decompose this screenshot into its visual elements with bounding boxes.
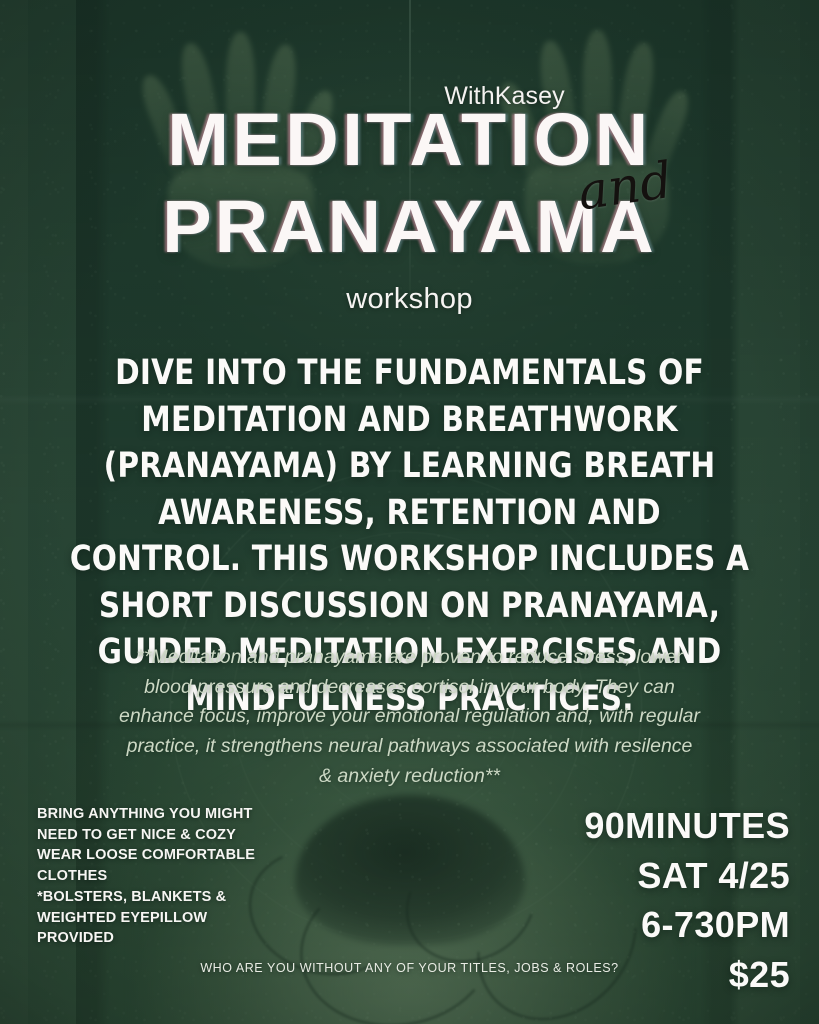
detail-date: SAT 4/25 <box>584 851 790 901</box>
bring-list: BRING ANYTHING YOU MIGHT NEED TO GET NIC… <box>37 804 255 949</box>
bring-list-item: BRING ANYTHING YOU MIGHT <box>37 804 255 825</box>
poster: WithKasey MEDITATION PRANAYAMA and works… <box>0 0 819 1024</box>
detail-time: 6-730PM <box>584 900 790 950</box>
title-line-pranayama: PRANAYAMA <box>0 191 819 264</box>
title-script-and: and <box>575 153 691 218</box>
detail-duration: 90MINUTES <box>584 801 790 851</box>
benefits-note: **Meditation and pranayama are proven to… <box>118 643 701 791</box>
bring-list-item: WEIGHTED EYEPILLOW <box>37 908 255 929</box>
subtitle-workshop: workshop <box>0 283 819 316</box>
poster-title: MEDITATION PRANAYAMA <box>0 104 819 263</box>
title-line-meditation: MEDITATION <box>0 104 819 177</box>
bring-list-item: NEED TO GET NICE & COZY <box>37 825 255 846</box>
bring-list-item: WEAR LOOSE COMFORTABLE <box>37 845 255 866</box>
bring-list-item: CLOTHES <box>37 866 255 887</box>
tagline: WHO ARE YOU WITHOUT ANY OF YOUR TITLES, … <box>0 961 819 975</box>
bring-list-item: PROVIDED <box>37 928 255 949</box>
bring-list-item: *BOLSTERS, BLANKETS & <box>37 887 255 908</box>
